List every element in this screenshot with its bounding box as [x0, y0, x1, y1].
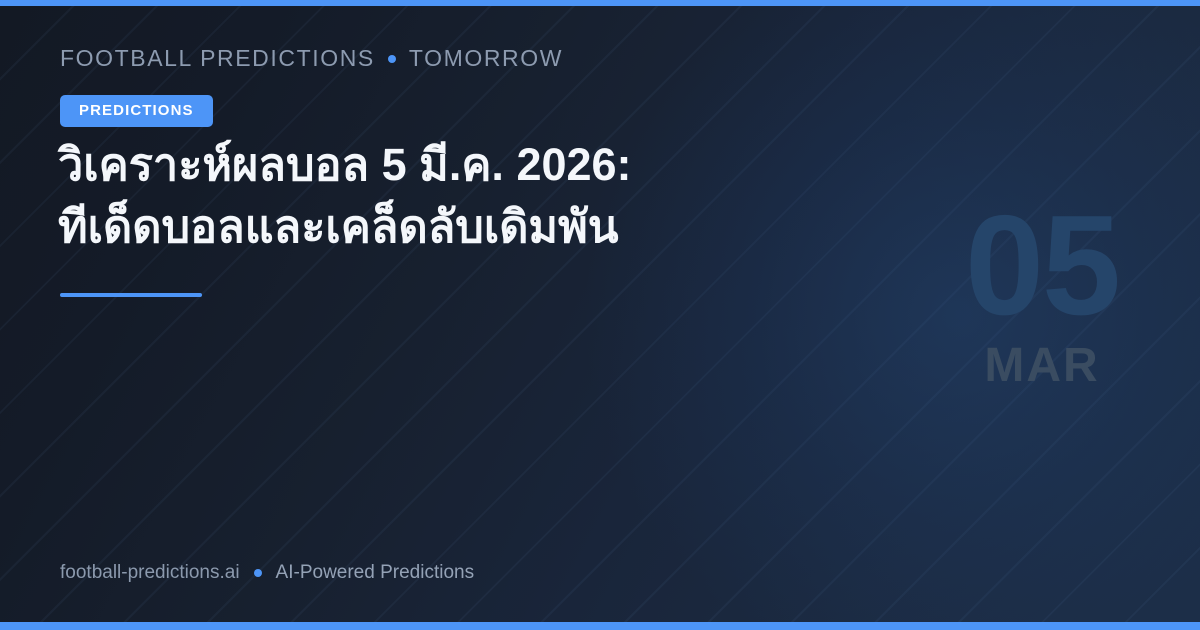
date-display: 05 MAR: [942, 208, 1142, 390]
page-title: วิเคราะห์ผลบอล 5 มี.ค. 2026: ทีเด็ดบอลแล…: [58, 134, 758, 258]
footer: football-predictions.ai AI-Powered Predi…: [60, 562, 474, 584]
bottom-accent-bar: [0, 622, 1200, 630]
eyebrow-category: FOOTBALL PREDICTIONS: [60, 45, 375, 72]
top-accent-bar: [0, 0, 1200, 6]
eyebrow-timeframe: TOMORROW: [409, 45, 563, 72]
bullet-dot-icon: [388, 55, 396, 63]
social-share-card: FOOTBALL PREDICTIONS TOMORROW PREDICTION…: [0, 0, 1200, 630]
predictions-badge[interactable]: PREDICTIONS: [60, 95, 213, 127]
page-title-line-1: วิเคราะห์ผลบอล 5 มี.ค. 2026:: [58, 134, 758, 196]
eyebrow: FOOTBALL PREDICTIONS TOMORROW: [60, 45, 563, 72]
date-day: 05: [942, 208, 1142, 324]
page-title-line-2: ทีเด็ดบอลและเคล็ดลับเดิมพัน: [58, 196, 758, 258]
bullet-dot-icon: [254, 569, 262, 577]
title-underline-rule: [60, 293, 202, 297]
footer-tagline: AI-Powered Predictions: [276, 562, 475, 584]
date-month: MAR: [942, 342, 1142, 390]
footer-site-url[interactable]: football-predictions.ai: [60, 562, 240, 584]
